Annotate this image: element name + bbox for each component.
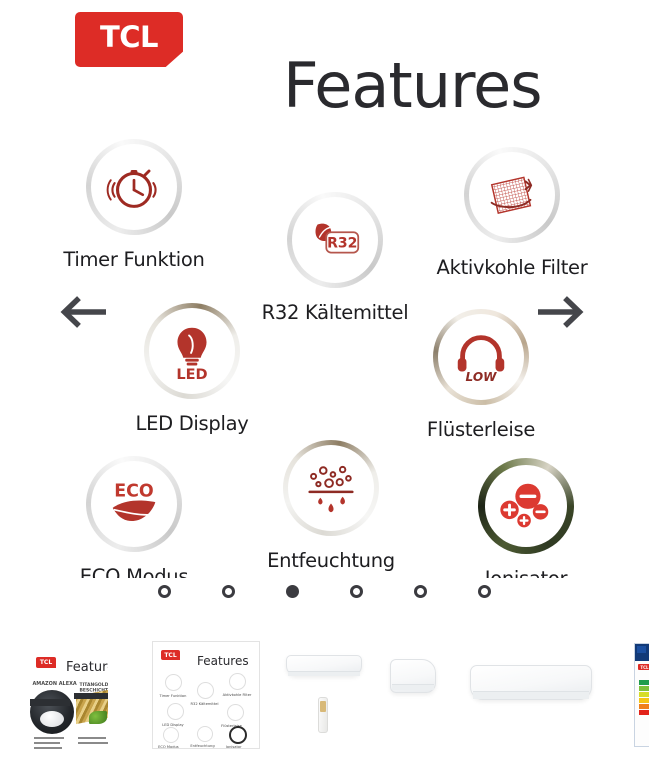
bullet-line: [78, 742, 108, 744]
feature-label: R32 Kältemittel: [262, 301, 409, 324]
eco-leaf-icon: ECO: [103, 473, 165, 535]
page-title: Features: [283, 55, 542, 117]
alexa-puck-icon: [40, 711, 64, 727]
stopwatch-icon: [103, 156, 165, 218]
r32-refrigerant-icon: R32: [304, 209, 366, 271]
feature-aktivkohle-filter: Aktivkohle Filter: [437, 147, 587, 279]
headphones-low-icon: LOW: [450, 326, 512, 388]
feature-icon-ring: [283, 440, 379, 536]
energy-class-bar: [639, 704, 649, 709]
feature-label: Ionisator: [485, 567, 567, 578]
thumbnail-features-grid[interactable]: TCL Features Timer Funktion R32 Kältemit…: [152, 641, 260, 749]
thumbnail-strip: TCL Features AMAZON ALEXA TITANGOLD™ BES…: [0, 622, 649, 768]
feature-fluesterleise: LOW Flüsterleise: [406, 309, 556, 441]
mini-feature-label: Aktivkohle Filter: [223, 692, 252, 697]
energy-class-bar: [639, 692, 649, 697]
feature-icon-ring: [86, 139, 182, 235]
mini-feature-ring: [165, 674, 182, 691]
eu-flag-icon: [637, 646, 646, 653]
pagination-dot[interactable]: [158, 585, 171, 598]
pagination-dot[interactable]: [414, 585, 427, 598]
mini-title: Features: [66, 660, 108, 675]
carousel-prev-button[interactable]: [58, 291, 112, 333]
mini-feature-label: R32 Kältemittel: [191, 701, 219, 706]
carousel-pagination: [0, 585, 649, 598]
product-gallery: TCL Features Timer Funktion: [0, 0, 649, 768]
feature-label: Timer Funktion: [63, 248, 204, 271]
feature-icon-ring: LOW: [433, 309, 529, 405]
feature-icon-ring: [464, 147, 560, 243]
feature-ionisator: Ionisator: [451, 458, 601, 578]
tcl-logo-text: TCL: [100, 23, 158, 52]
feature-entfeuchtung: Entfeuchtung: [256, 440, 406, 572]
energy-class-bar: [639, 698, 649, 703]
tcl-logo: TCL: [75, 12, 183, 67]
mini-tcl-logo: TCL: [36, 657, 56, 668]
mini-feature-ring: [197, 682, 214, 699]
ionizer-plus-minus-icon: [495, 475, 557, 537]
mini-caption-alexa: AMAZON ALEXA: [32, 681, 76, 686]
feature-led-display: LED LED Display: [117, 303, 267, 435]
feature-icon-ring: LED: [144, 303, 240, 399]
bullet-line: [34, 737, 64, 739]
energy-class-bar: [639, 710, 649, 715]
carousel-viewport: TCL Features Timer Funktion: [0, 0, 649, 578]
dehumidify-droplets-icon: [300, 457, 362, 519]
feature-icon-ring: R32: [287, 192, 383, 288]
svg-text:LOW: LOW: [466, 370, 498, 384]
feature-icon-ring: [478, 458, 574, 554]
feature-timer-funktion: Timer Funktion: [59, 139, 209, 271]
mini-feature-label: Ionisator: [226, 744, 242, 749]
pagination-dot-active[interactable]: [286, 585, 299, 598]
svg-text:LED: LED: [176, 367, 207, 382]
thumbnail-indoor-unit-remote[interactable]: [276, 635, 368, 755]
carbon-filter-mesh-icon: [481, 164, 543, 226]
svg-text:ECO: ECO: [114, 481, 154, 501]
ac-vent: [392, 684, 434, 690]
pagination-dot[interactable]: [350, 585, 363, 598]
led-bulb-icon: LED: [161, 320, 223, 382]
remote-screen: [320, 701, 326, 712]
mini-tcl-logo: TCL: [161, 650, 180, 660]
leaf-accent-icon: [89, 711, 107, 724]
mini-feature-ring: [163, 727, 179, 743]
mini-feature-label: ECO Modus: [158, 744, 179, 749]
mini-feature-ring: [167, 703, 184, 720]
mini-feature-label: Entfeuchtung: [190, 743, 214, 748]
bullet-line: [78, 737, 106, 739]
thumbnail-alexa-titangold[interactable]: TCL Features AMAZON ALEXA TITANGOLD™ BES…: [0, 635, 108, 755]
feature-label: ECO Modus: [80, 565, 188, 578]
arrow-left-icon: [60, 295, 110, 329]
ac-vent: [473, 691, 589, 699]
feature-label: Flüsterleise: [427, 418, 535, 441]
thumbnail-indoor-unit-front[interactable]: [460, 635, 600, 755]
mini-tcl-logo: TCL: [638, 664, 649, 670]
mini-feature-label: LED Display: [162, 722, 183, 727]
energy-class-bar: [639, 686, 649, 691]
mini-feature-ring: [229, 673, 246, 690]
svg-text:R32: R32: [327, 235, 357, 251]
feature-icon-ring: ECO: [86, 456, 182, 552]
titangold-label-band: [74, 693, 108, 699]
mini-feature-ring-active: [229, 726, 247, 744]
mini-feature-label: Timer Funktion: [159, 693, 186, 698]
feature-label: Entfeuchtung: [267, 549, 395, 572]
energy-class-bar: [639, 680, 649, 685]
feature-label: Aktivkohle Filter: [437, 256, 588, 279]
bullet-line: [34, 742, 60, 744]
pagination-dot[interactable]: [478, 585, 491, 598]
ac-vent: [288, 671, 360, 676]
mini-title: Features: [197, 654, 249, 668]
pagination-dot[interactable]: [222, 585, 235, 598]
feature-label: LED Display: [136, 412, 249, 435]
mini-feature-ring: [197, 726, 213, 742]
mini-feature-ring: [227, 704, 244, 721]
bullet-line: [34, 747, 62, 749]
feature-r32-kaeltemittel: R32 R32 Kältemittel: [260, 192, 410, 324]
feature-eco-modus: ECO ECO Modus: [59, 456, 209, 578]
thumbnail-indoor-unit-angled[interactable]: [372, 635, 460, 755]
thumbnail-energy-label[interactable]: ENERG TCL: [618, 635, 649, 755]
alexa-label-band: [30, 699, 70, 706]
